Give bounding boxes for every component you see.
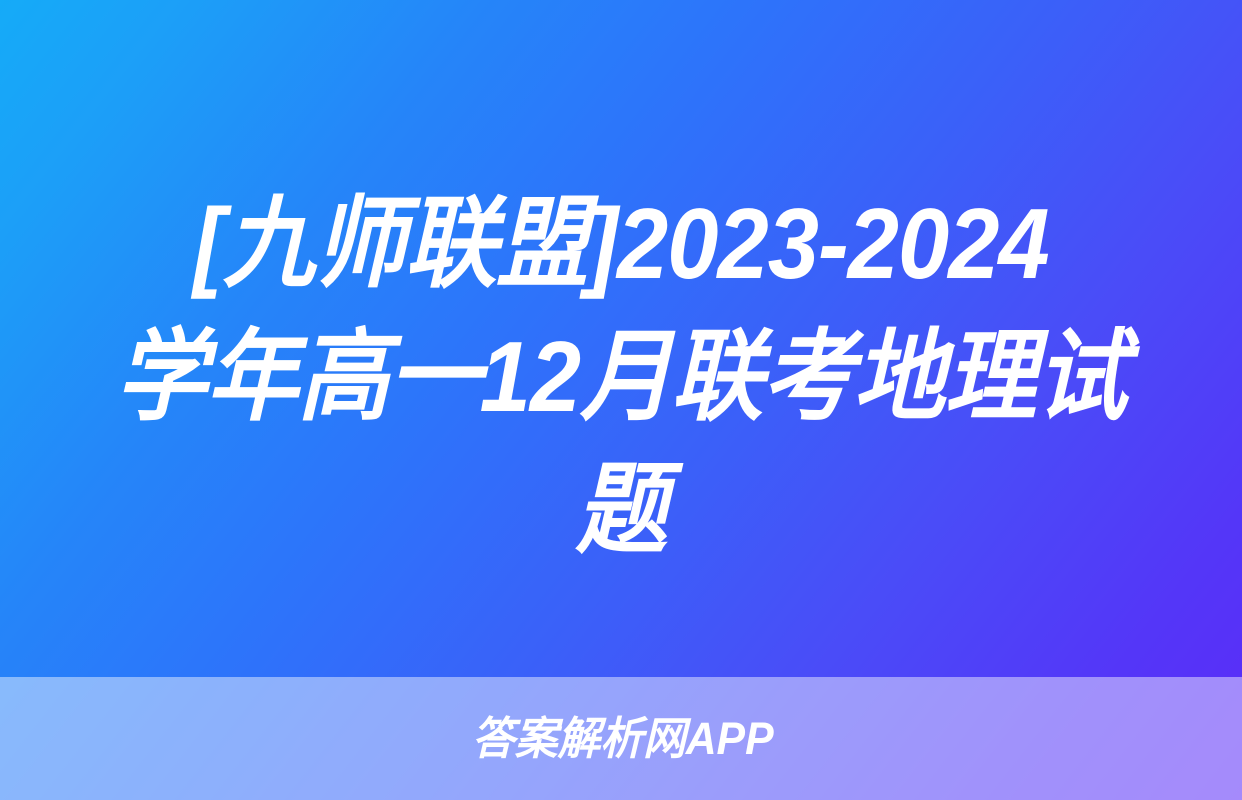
page-title-line-2: 学年高一12月联考地理试 xyxy=(90,311,1152,444)
watermark-band: 答案解析网APP xyxy=(0,677,1242,800)
exam-cover-card[interactable]: [九师联盟]2023-2024 学年高一12月联考地理试 题 答案解析网APP xyxy=(0,0,1242,800)
watermark-app-label: 答案解析网APP xyxy=(472,716,774,761)
page-title: [九师联盟]2023-2024 学年高一12月联考地理试 题 xyxy=(0,178,1242,577)
page-title-line-1: [九师联盟]2023-2024 xyxy=(90,178,1152,311)
page-title-line-3: 题 xyxy=(90,444,1152,577)
